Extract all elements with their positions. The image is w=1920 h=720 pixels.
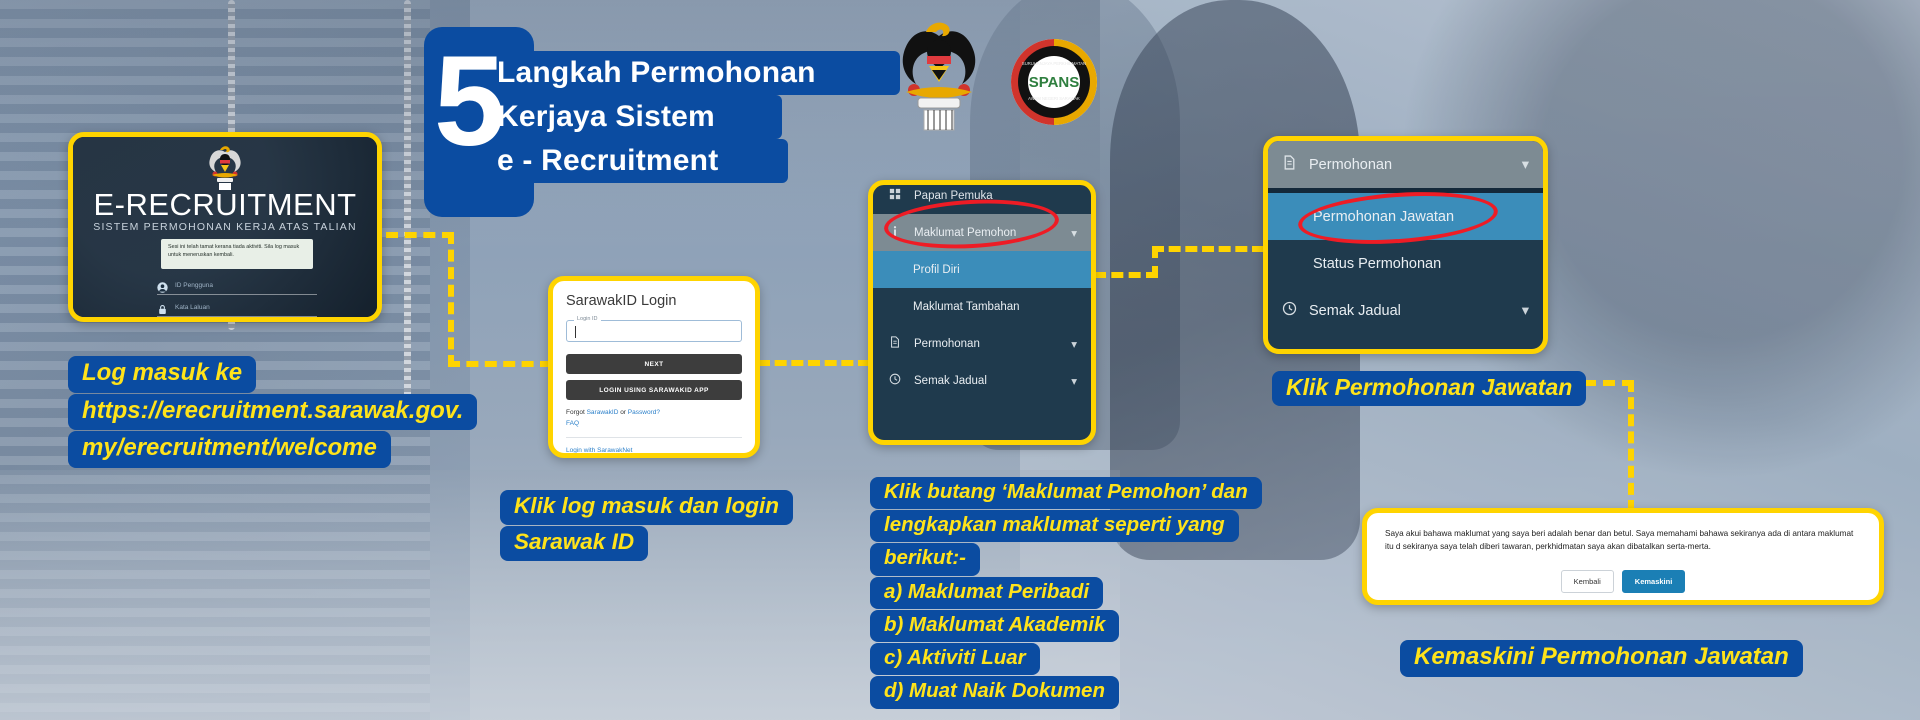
callout-login-url: Log masuk ke https://erecruitment.sarawa… [68, 356, 477, 469]
login-using-sarawakid-app-button[interactable]: LOGIN USING SARAWAKID APP [566, 380, 742, 400]
menu-item-permohonan[interactable]: Permohonan ▾ [1268, 141, 1543, 188]
menu-item-papan-pemuka[interactable]: Papan Pemuka [873, 180, 1091, 214]
connector-menu-to-right-h2 [1152, 246, 1264, 252]
callout-line: b) Maklumat Akademik [870, 610, 1119, 642]
callout-line: Klik butang ‘Maklumat Pemohon’ dan [870, 477, 1262, 509]
menu-label: Permohonan [1309, 157, 1510, 173]
faq-link[interactable]: FAQ [566, 419, 742, 430]
sarawak-crest-icon [208, 144, 242, 190]
menu-label: Papan Pemuka [914, 190, 1065, 202]
next-button[interactable]: NEXT [566, 354, 742, 374]
declaration-actions: Kembali Kemaskini [1385, 570, 1861, 593]
applicant-menu-card[interactable]: Papan Pemuka Maklumat Pemohon ▾ Profil D… [868, 180, 1096, 445]
user-id-field[interactable]: ID Pengguna [157, 277, 317, 295]
connector-erec-to-sarawakid-v [448, 232, 454, 367]
menu-item-permohonan-jawatan[interactable]: Permohonan Jawatan [1268, 193, 1543, 240]
kembali-button[interactable]: Kembali [1561, 570, 1614, 593]
info-icon [887, 225, 902, 240]
menu-label: Semak Jadual [1309, 303, 1510, 319]
menu-item-semak-jadual[interactable]: Semak Jadual ▾ [1268, 287, 1543, 334]
callout-line: lengkapkan maklumat seperti yang [870, 510, 1239, 542]
login-with-sarawaknet-link[interactable]: Login with SarawakNet [566, 447, 742, 454]
menu-label: Permohonan [914, 338, 1059, 350]
chevron-down-icon: ▾ [1522, 157, 1529, 173]
menu-item-semak-jadual[interactable]: Semak Jadual ▾ [873, 362, 1091, 399]
clock-icon [887, 373, 902, 388]
chevron-down-icon: ▾ [1522, 303, 1529, 319]
text-caret [575, 326, 576, 338]
chevron-down-icon: ▾ [1071, 226, 1077, 240]
lock-icon [157, 302, 168, 313]
menu-label: Maklumat Tambahan [913, 301, 1077, 313]
menu-item-status-permohonan[interactable]: Status Permohonan [1268, 240, 1543, 287]
sarawakid-login-card[interactable]: SarawakID Login Login ID NEXT LOGIN USIN… [548, 276, 760, 458]
user-id-label: ID Pengguna [175, 282, 213, 289]
connector-sarawakid-to-menu [758, 360, 870, 366]
spans-logo: SPANS SURUHANJAYA PERKHIDMATAN AWAM NEGE… [1010, 38, 1098, 126]
login-id-label: Login ID [574, 316, 601, 322]
callout-line: a) Maklumat Peribadi [870, 577, 1103, 609]
connector-right-to-decl-v [1628, 380, 1634, 512]
header-title-line-1: Langkah Permohonan [497, 56, 816, 90]
sarawakid-help-links: Forgot SarawakID or Password? FAQ [566, 408, 742, 429]
user-icon [157, 280, 168, 291]
callout-line: https://erecruitment.sarawak.gov. [68, 394, 477, 431]
clock-icon [1282, 301, 1297, 320]
forgot-prefix: Forgot [566, 409, 587, 416]
kemaskini-button[interactable]: Kemaskini [1622, 570, 1686, 593]
callout-line: my/erecruitment/welcome [68, 431, 391, 468]
sarawak-crest-logo [896, 18, 982, 140]
password-field[interactable]: Kata Laluan [157, 299, 317, 317]
password-label: Kata Laluan [175, 304, 210, 311]
erecruitment-login-button[interactable]: Log Masuk [157, 321, 317, 322]
forgot-line: Forgot SarawakID or Password? [566, 408, 742, 419]
header-title-line-3: e - Recruitment [497, 144, 718, 178]
menu-label: Semak Jadual [914, 375, 1059, 387]
erecruitment-portal-card[interactable]: E-RECRUITMENT SISTEM PERMOHONAN KERJA AT… [68, 132, 382, 322]
header-title-line-2: Kerjaya Sistem [497, 100, 715, 134]
erecruitment-subtitle: SISTEM PERMOHONAN KERJA ATAS TALIAN [73, 221, 377, 233]
callout-line: c) Aktiviti Luar [870, 643, 1040, 675]
callout-line: Sarawak ID [500, 526, 648, 561]
erecruitment-title: E-RECRUITMENT [73, 187, 377, 223]
menu-item-profil-diri[interactable]: Profil Diri [873, 251, 1091, 288]
svg-text:SPANS: SPANS [1029, 74, 1080, 91]
callout-line: Klik Permohonan Jawatan [1272, 371, 1586, 406]
callout-maklumat-pemohon: Klik butang ‘Maklumat Pemohon’ dan lengk… [870, 477, 1262, 710]
callout-click-login: Klik log masuk dan login Sarawak ID [500, 490, 793, 562]
permohonan-menu-card[interactable]: Permohonan ▾ Permohonan Jawatan Status P… [1263, 136, 1548, 354]
declaration-text: Saya akui bahawa maklumat yang saya beri… [1385, 528, 1861, 553]
connector-erec-to-sarawakid-h1 [386, 232, 454, 238]
document-icon [1282, 155, 1297, 174]
callout-line: berikut:- [870, 543, 980, 575]
callout-line: Log masuk ke [68, 356, 256, 393]
forgot-password-link[interactable]: Password? [628, 409, 660, 416]
callout-line: d) Muat Naik Dokumen [870, 676, 1119, 708]
menu-label: Permohonan Jawatan [1313, 209, 1529, 225]
callout-line: Klik log masuk dan login [500, 490, 793, 525]
declaration-dialog[interactable]: Saya akui bahawa maklumat yang saya beri… [1362, 508, 1884, 605]
svg-text:SURUHANJAYA PERKHIDMATAN: SURUHANJAYA PERKHIDMATAN [1022, 61, 1086, 66]
session-expired-alert: Sesi ini telah tamat kerana tiada aktivi… [161, 239, 313, 269]
header-step-number: 5 [434, 38, 501, 166]
chevron-down-icon: ▾ [1071, 337, 1077, 351]
menu-item-maklumat-pemohon[interactable]: Maklumat Pemohon ▾ [873, 214, 1091, 251]
sarawakid-login-title: SarawakID Login [566, 293, 742, 309]
callout-line: Kemaskini Permohonan Jawatan [1400, 640, 1803, 677]
svg-text:AWAM NEGERI SARAWAK: AWAM NEGERI SARAWAK [1028, 96, 1080, 101]
menu-label: Maklumat Pemohon [914, 227, 1059, 239]
menu-item-maklumat-tambahan[interactable]: Maklumat Tambahan [873, 288, 1091, 325]
callout-kemaskini: Kemaskini Permohonan Jawatan [1400, 640, 1803, 678]
forgot-sarawakid-link[interactable]: SarawakID [587, 409, 619, 416]
connector-menu-to-right-h1 [1094, 272, 1158, 278]
login-id-input[interactable]: Login ID [566, 320, 742, 342]
menu-item-permohonan[interactable]: Permohonan ▾ [873, 325, 1091, 362]
callout-permohonan-jawatan: Klik Permohonan Jawatan [1272, 371, 1586, 407]
divider [566, 437, 742, 438]
chevron-down-icon: ▾ [1071, 374, 1077, 388]
dashboard-icon [887, 188, 902, 203]
menu-label: Status Permohonan [1313, 256, 1529, 272]
document-icon [887, 336, 902, 351]
menu-label: Profil Diri [913, 264, 1077, 276]
forgot-or: or [618, 409, 627, 416]
